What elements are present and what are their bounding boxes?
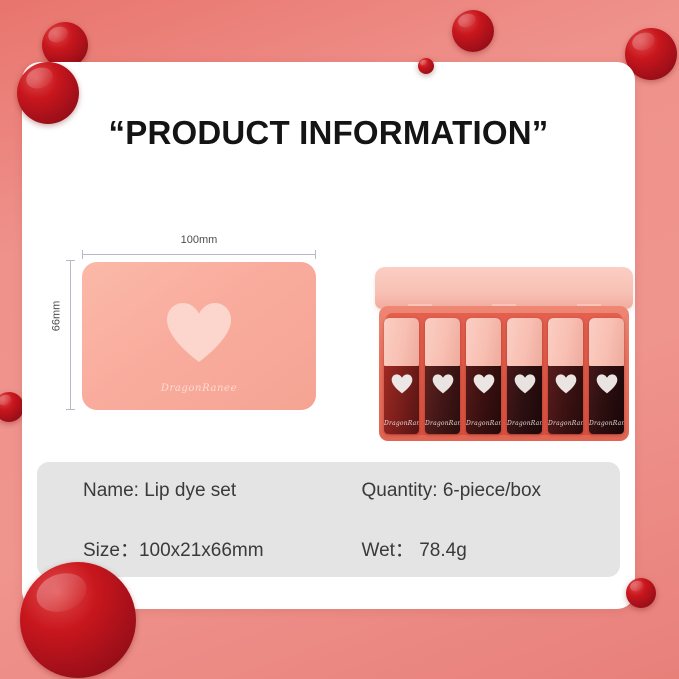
open-box-photo: DragonRanee DragonRanee Drag [370,222,638,467]
heart-icon [555,374,577,394]
decor-sphere [17,62,79,124]
tube-brand-mark: DragonRanee [548,420,583,427]
content-card: “PRODUCT INFORMATION” 100mm 66mm DragonR… [22,62,635,609]
product-information-graphic: “PRODUCT INFORMATION” 100mm 66mm DragonR… [0,0,679,679]
box-lid [375,267,633,309]
lip-tube: DragonRanee [548,318,583,434]
closed-case: DragonRanee [82,262,316,410]
lip-tube: DragonRanee [589,318,624,434]
lip-tube: DragonRanee [425,318,460,434]
tube-brand-mark: DragonRanee [507,420,542,427]
tube-cap [548,318,583,366]
tube-cap [425,318,460,366]
specification-panel: Name: Lip dye set Quantity: 6-piece/box … [37,462,620,577]
spec-name: Name: Lip dye set [83,480,352,502]
spec-size: Size：100x21x66mm [83,535,352,562]
heart-icon [473,374,495,394]
case-dimension-diagram: 100mm 66mm DragonRanee [58,230,318,420]
heart-icon [391,374,413,394]
tube-brand-mark: DragonRanee [425,420,460,427]
page-title: “PRODUCT INFORMATION” [22,114,635,152]
lip-tube-row: DragonRanee DragonRanee Drag [384,318,624,436]
width-dimension-line [82,254,316,255]
heart-icon [432,374,454,394]
width-dimension-label: 100mm [82,234,316,246]
heart-icon [596,374,618,394]
tube-cap [466,318,501,366]
case-brand-mark: DragonRanee [82,383,316,394]
tube-cap [384,318,419,366]
decor-sphere [0,392,24,422]
tube-brand-mark: DragonRanee [384,420,419,427]
height-dimension-line [70,260,71,410]
heart-icon [514,374,536,394]
tube-brand-mark: DragonRanee [589,420,624,427]
decor-sphere [626,578,656,608]
lip-tube: DragonRanee [466,318,501,434]
decor-sphere [418,58,434,74]
tube-cap [589,318,624,366]
height-dimension-label: 66mm [50,301,62,332]
decor-sphere [452,10,494,52]
lip-tube: DragonRanee [507,318,542,434]
heart-icon [166,302,232,364]
decor-sphere [20,562,136,678]
spec-quantity: Quantity: 6-piece/box [352,480,621,502]
tube-cap [507,318,542,366]
spec-wet: Wet： 78.4g [352,535,621,562]
lip-tube: DragonRanee [384,318,419,434]
tube-brand-mark: DragonRanee [466,420,501,427]
